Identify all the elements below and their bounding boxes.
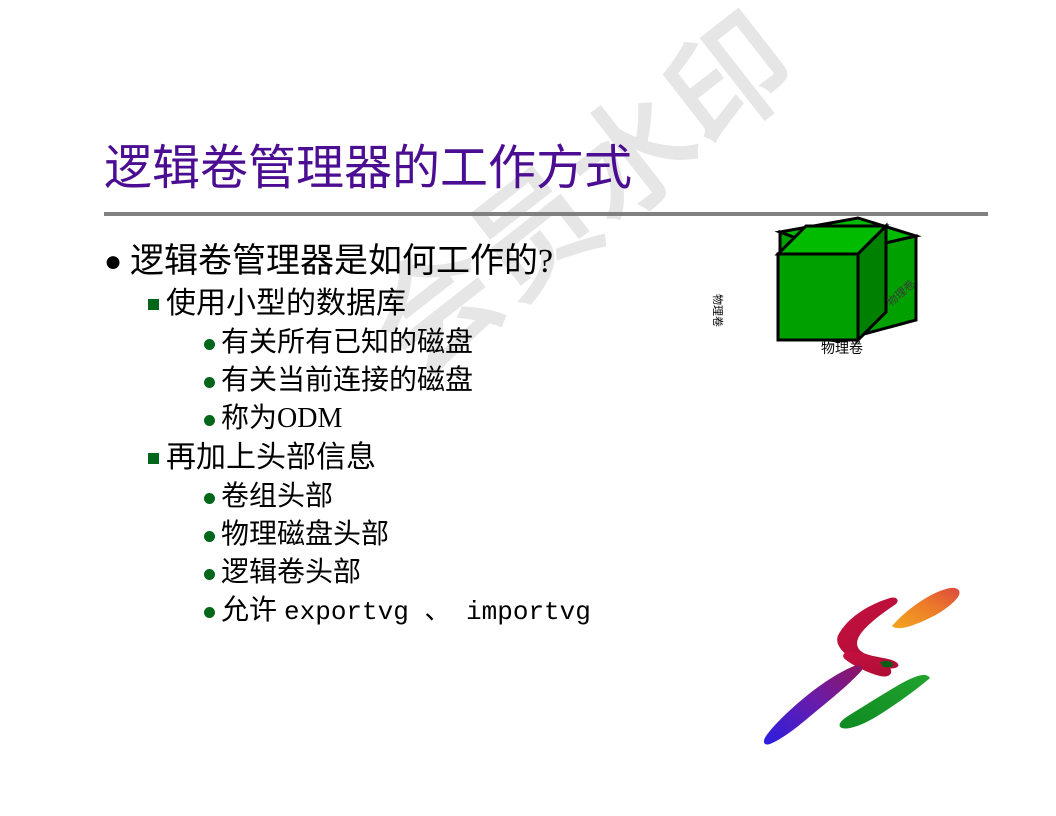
green-circle-icon [204, 400, 221, 438]
green-square-icon [148, 284, 166, 324]
list-item-label: 卷组头部 [221, 478, 333, 516]
list-item: 使用小型的数据库 [148, 284, 724, 324]
list-item: 有关当前连接的磁盘 [204, 362, 724, 400]
cube-caption: 物理卷 [782, 338, 902, 358]
list-item-label-code: exportvg 、 importvg [284, 597, 591, 627]
list-item: 卷组头部 [204, 478, 724, 516]
physical-volume-cube-figure: 物理卷 物理卷 物理卷 [728, 216, 958, 376]
bullet-list: ● 逻辑卷管理器是如何工作的? 使用小型的数据库 有关所有已知的磁盘 有关当前连… [104, 240, 724, 631]
green-circle-icon [204, 478, 221, 516]
slide-canvas: 会员水印 逻辑卷管理器的工作方式 ● 逻辑卷管理器是如何工作的? 使用小型的数据… [0, 0, 1056, 816]
green-circle-icon [204, 362, 221, 400]
list-item-label: 有关所有已知的磁盘 [221, 324, 473, 362]
logo-icon [744, 566, 974, 756]
list-item: 有关所有已知的磁盘 [204, 324, 724, 362]
list-item: 允许 exportvg 、 importvg [204, 592, 724, 631]
list-item: ● 逻辑卷管理器是如何工作的? [104, 240, 724, 284]
list-item-label: 逻辑卷管理器是如何工作的? [130, 240, 553, 284]
list-item-label: 再加上头部信息 [166, 438, 376, 478]
title-divider [104, 212, 988, 216]
list-item-label: 逻辑卷头部 [221, 554, 361, 592]
filled-circle-icon: ● [104, 240, 130, 284]
list-item-label-prefix: 允许 [221, 595, 284, 626]
page-title: 逻辑卷管理器的工作方式 [104, 138, 632, 200]
brush-stroke-logo [744, 566, 974, 756]
list-item-label: 称为ODM [221, 400, 342, 438]
green-circle-icon [204, 554, 221, 592]
list-item-label: 允许 exportvg 、 importvg [221, 592, 591, 631]
list-item: 逻辑卷头部 [204, 554, 724, 592]
green-circle-icon [204, 516, 221, 554]
list-item: 物理磁盘头部 [204, 516, 724, 554]
list-item: 再加上头部信息 [148, 438, 724, 478]
green-square-icon [148, 438, 166, 478]
list-item-label: 物理磁盘头部 [221, 516, 389, 554]
list-item-label: 有关当前连接的磁盘 [221, 362, 473, 400]
list-item: 称为ODM [204, 400, 724, 438]
green-circle-icon [204, 592, 221, 630]
list-item-label: 使用小型的数据库 [166, 284, 406, 324]
green-circle-icon [204, 324, 221, 362]
